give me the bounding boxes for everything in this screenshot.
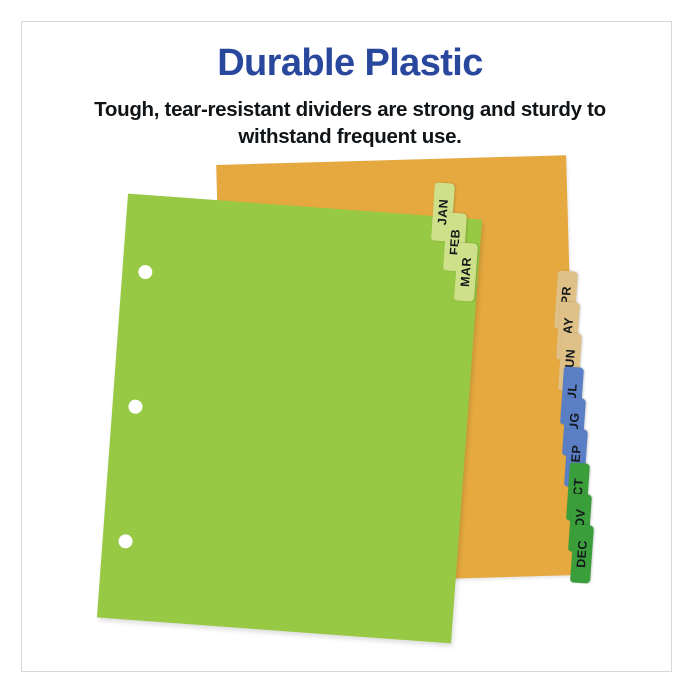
punch-hole-front-1 xyxy=(138,265,153,280)
divider-tab-mar: MAR xyxy=(454,242,478,301)
page-title: Durable Plastic xyxy=(0,44,700,84)
punch-hole-front-3 xyxy=(118,534,133,549)
green-divider-sheet xyxy=(97,194,482,644)
divider-tab-dec: DEC xyxy=(570,524,594,583)
marketing-copy: Durable Plastic Tough, tear-resistant di… xyxy=(0,44,700,151)
product-image-card: JANFEBMARAPRMAYJUNJULAUGSEPOCTNOVDEC Dur… xyxy=(0,0,700,700)
page-subtitle: Tough, tear-resistant dividers are stron… xyxy=(60,96,640,151)
punch-hole-front-2 xyxy=(128,399,143,414)
